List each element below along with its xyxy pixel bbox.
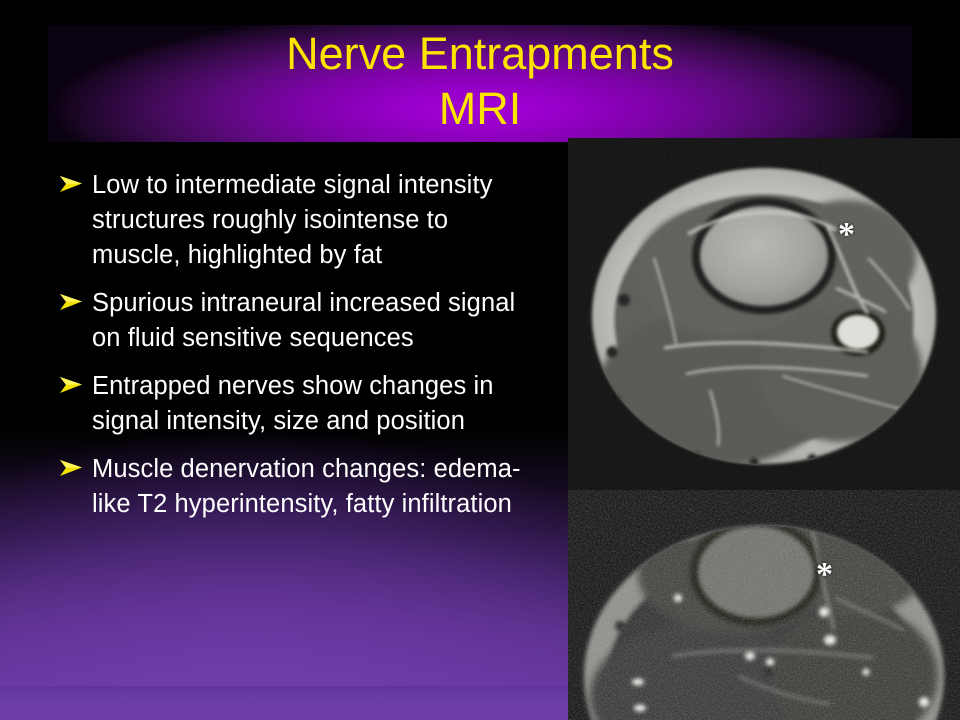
list-item: Low to intermediate signal intensity str…	[52, 168, 522, 273]
list-item-label: Entrapped nerves show changes in signal …	[92, 369, 522, 439]
list-item: Entrapped nerves show changes in signal …	[52, 369, 522, 439]
arrow-bullet-icon	[56, 289, 86, 315]
mri-axial-fluid-sensitive-lower: *	[568, 490, 960, 720]
list-item: Spurious intraneural increased signal on…	[52, 286, 522, 356]
mri-image-panel: *	[568, 138, 960, 720]
bullet-list: Low to intermediate signal intensity str…	[52, 168, 522, 535]
background-bottom-bar	[0, 686, 570, 720]
asterisk-marker: *	[838, 218, 855, 252]
slide-title: Nerve Entrapments MRI	[48, 26, 912, 136]
list-item-label: Muscle denervation changes: edema-like T…	[92, 452, 522, 522]
list-item: Muscle denervation changes: edema-like T…	[52, 452, 522, 522]
list-item-label: Low to intermediate signal intensity str…	[92, 168, 522, 273]
arrow-bullet-icon	[56, 372, 86, 398]
mri-axial-t1-upper: *	[568, 138, 960, 490]
arrow-bullet-icon	[56, 455, 86, 481]
presentation-slide: Nerve Entrapments MRI Low to intermediat…	[0, 0, 960, 720]
arrow-bullet-icon	[56, 171, 86, 197]
list-item-label: Spurious intraneural increased signal on…	[92, 286, 522, 356]
asterisk-marker: *	[816, 558, 833, 592]
